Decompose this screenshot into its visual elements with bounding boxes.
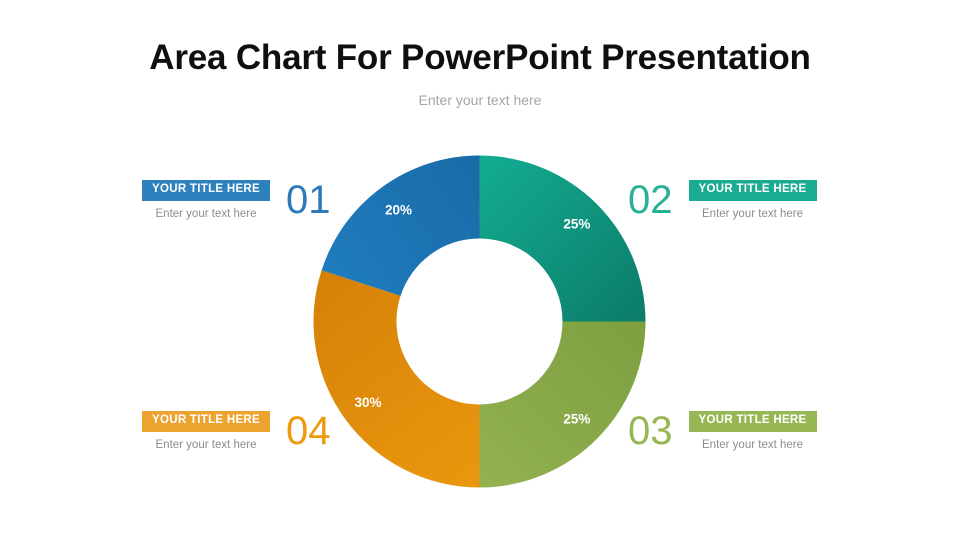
donut-slice-03[interactable] xyxy=(480,322,646,488)
donut-slice-label-01: 20% xyxy=(385,203,412,218)
donut-slice-01[interactable] xyxy=(322,156,480,296)
callout-01-subtext: Enter your text here xyxy=(142,208,270,220)
callout-01-number: 01 xyxy=(286,180,331,220)
page-subtitle: Enter your text here xyxy=(0,92,960,108)
donut-slice-label-04: 30% xyxy=(355,395,382,410)
callout-03-number: 03 xyxy=(628,411,673,451)
donut-slice-04[interactable] xyxy=(314,270,480,487)
donut-slice-label-03: 25% xyxy=(563,411,590,426)
callout-04-number: 04 xyxy=(286,411,331,451)
callout-03[interactable]: 03 YOUR TITLE HERE Enter your text here xyxy=(628,411,817,451)
donut-slice-02[interactable] xyxy=(480,156,646,322)
callout-03-badge[interactable]: YOUR TITLE HERE xyxy=(689,411,817,432)
donut-slice-group xyxy=(314,156,646,488)
callout-01[interactable]: YOUR TITLE HERE Enter your text here 01 xyxy=(142,180,331,220)
callout-03-text: YOUR TITLE HERE Enter your text here xyxy=(689,411,817,451)
donut-slice-label-02: 25% xyxy=(563,217,590,232)
callout-04-badge[interactable]: YOUR TITLE HERE xyxy=(142,411,270,432)
callout-02[interactable]: 02 YOUR TITLE HERE Enter your text here xyxy=(628,180,817,220)
callout-04-subtext: Enter your text here xyxy=(142,439,270,451)
donut-chart: 25%25%30%20% xyxy=(313,155,646,488)
callout-01-badge[interactable]: YOUR TITLE HERE xyxy=(142,180,270,201)
callout-02-text: YOUR TITLE HERE Enter your text here xyxy=(689,180,817,220)
callout-04-text: YOUR TITLE HERE Enter your text here xyxy=(142,411,270,451)
callout-03-subtext: Enter your text here xyxy=(689,439,817,451)
callout-01-text: YOUR TITLE HERE Enter your text here xyxy=(142,180,270,220)
page-title: Area Chart For PowerPoint Presentation xyxy=(0,38,960,78)
donut-chart-svg: 25%25%30%20% xyxy=(313,155,646,488)
callout-02-number: 02 xyxy=(628,180,673,220)
callout-04[interactable]: YOUR TITLE HERE Enter your text here 04 xyxy=(142,411,331,451)
slide-canvas: Area Chart For PowerPoint Presentation E… xyxy=(0,0,960,540)
callout-02-badge[interactable]: YOUR TITLE HERE xyxy=(689,180,817,201)
callout-02-subtext: Enter your text here xyxy=(689,208,817,220)
